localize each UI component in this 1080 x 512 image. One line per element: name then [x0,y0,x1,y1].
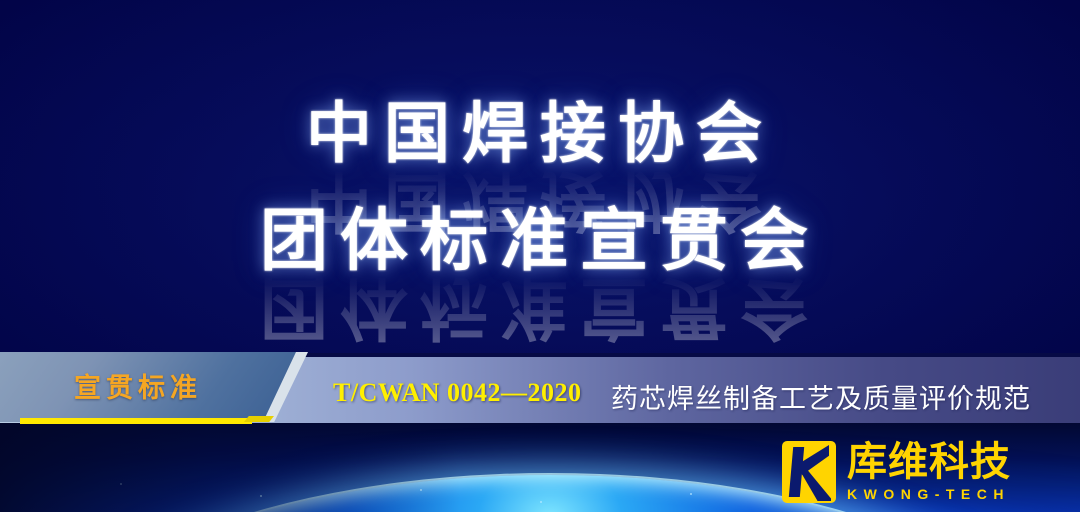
title-line-1-wrap: 中国焊接协会 中国焊接协会 [0,92,1080,200]
company-name-en: KWONG-TECH [847,486,1011,502]
title-line-2-wrap: 团体标准宣贯会 团体标准宣贯会 [0,200,1080,304]
standard-title: 药芯焊丝制备工艺及质量评价规范 [611,377,1031,416]
badge-underline-tail [244,416,274,422]
main-title-line-2: 团体标准宣贯会 [0,200,1080,282]
badge-label: 宣贯标准 [74,366,202,405]
company-logo-text: 库维科技 KWONG-TECH [847,441,1011,502]
company-logo: 库维科技 KWONG-TECH [782,441,1011,503]
kwong-k-monogram-icon [782,441,836,503]
main-title-line-1: 中国焊接协会 [0,92,1080,174]
main-title-block: 中国焊接协会 中国焊接协会 团体标准宣贯会 团体标准宣贯会 [0,92,1080,304]
company-name-cn: 库维科技 [847,441,1011,483]
badge-underline [20,418,252,424]
star-speck [540,501,542,503]
presentation-slide: 中国焊接协会 中国焊接协会 团体标准宣贯会 团体标准宣贯会 宣贯标准 T/CWA… [0,0,1080,512]
standard-number: T/CWAN 0042—2020 [333,378,582,408]
star-speck [690,493,692,495]
k-lower-arm [799,469,831,501]
earth-left-shadow [0,423,460,512]
